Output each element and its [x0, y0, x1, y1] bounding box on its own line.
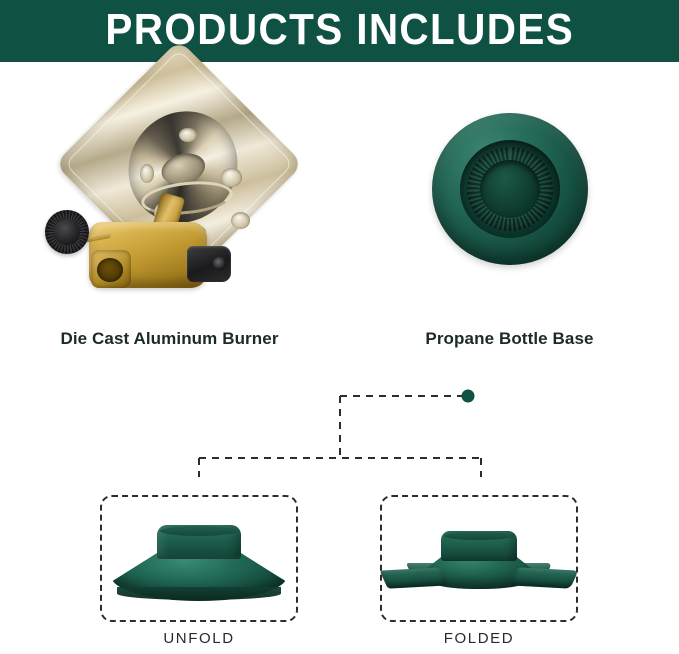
product-row: Die Cast Aluminum Burner Propane Bottle …: [0, 62, 679, 367]
burner-vent-hole: [221, 168, 242, 187]
burner-vent-hole: [231, 212, 250, 229]
folded-collar: [441, 531, 517, 561]
burner-control-knob: [45, 210, 89, 254]
base-image: [340, 68, 679, 308]
connector-lines: [0, 367, 679, 477]
base-center-bore: [480, 160, 540, 218]
burner-vent-hole: [140, 164, 154, 183]
propane-base-illustration: [394, 78, 626, 300]
connector-node-dot: [462, 390, 475, 403]
fold-box-folded: [380, 495, 578, 622]
burner-image: [0, 68, 339, 308]
burner-black-outlet: [187, 246, 231, 282]
product-caption-base: Propane Bottle Base: [340, 329, 679, 349]
fold-caption-unfold: UNFOLD: [100, 630, 298, 647]
product-card-burner: Die Cast Aluminum Burner: [0, 62, 339, 367]
unfold-foot-rim: [117, 587, 281, 600]
folded-illustration: [387, 531, 571, 597]
burner-illustration: [45, 76, 295, 302]
product-caption-burner: Die Cast Aluminum Burner: [0, 329, 339, 349]
fold-box-unfold: [100, 495, 298, 622]
burner-brass-coupling-nut: [91, 250, 131, 288]
product-card-base: Propane Bottle Base: [340, 62, 679, 367]
fold-caption-folded: FOLDED: [380, 630, 578, 647]
unfold-illustration: [111, 525, 287, 603]
page-header-banner: PRODUCTS INCLUDES: [0, 0, 679, 62]
folded-leg-right: [510, 567, 579, 588]
folded-leg-left: [380, 567, 449, 588]
connector-diagram: [0, 367, 679, 477]
unfold-collar: [157, 525, 241, 559]
burner-vent-hole: [179, 128, 197, 142]
